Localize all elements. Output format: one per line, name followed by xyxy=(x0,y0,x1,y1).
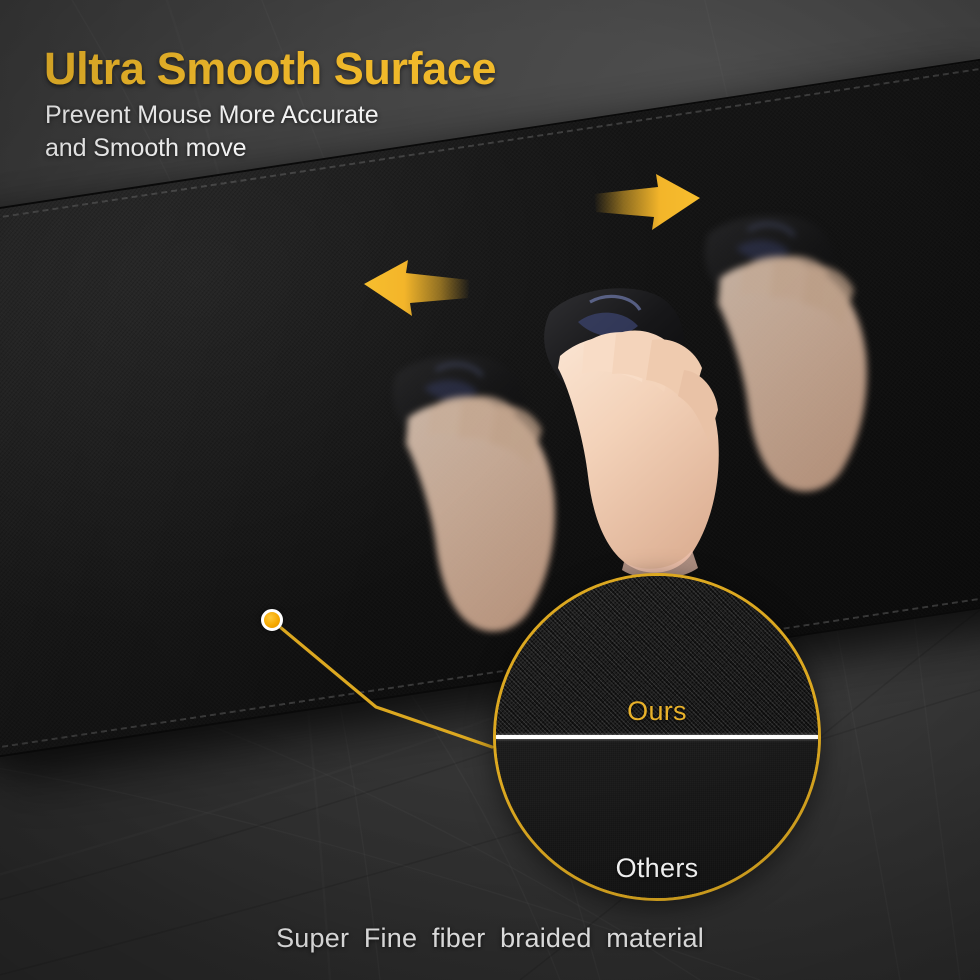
product-marketing-image: Ours Others Ultra Smooth Surface Prevent… xyxy=(0,0,980,980)
vignette-overlay xyxy=(0,0,980,980)
